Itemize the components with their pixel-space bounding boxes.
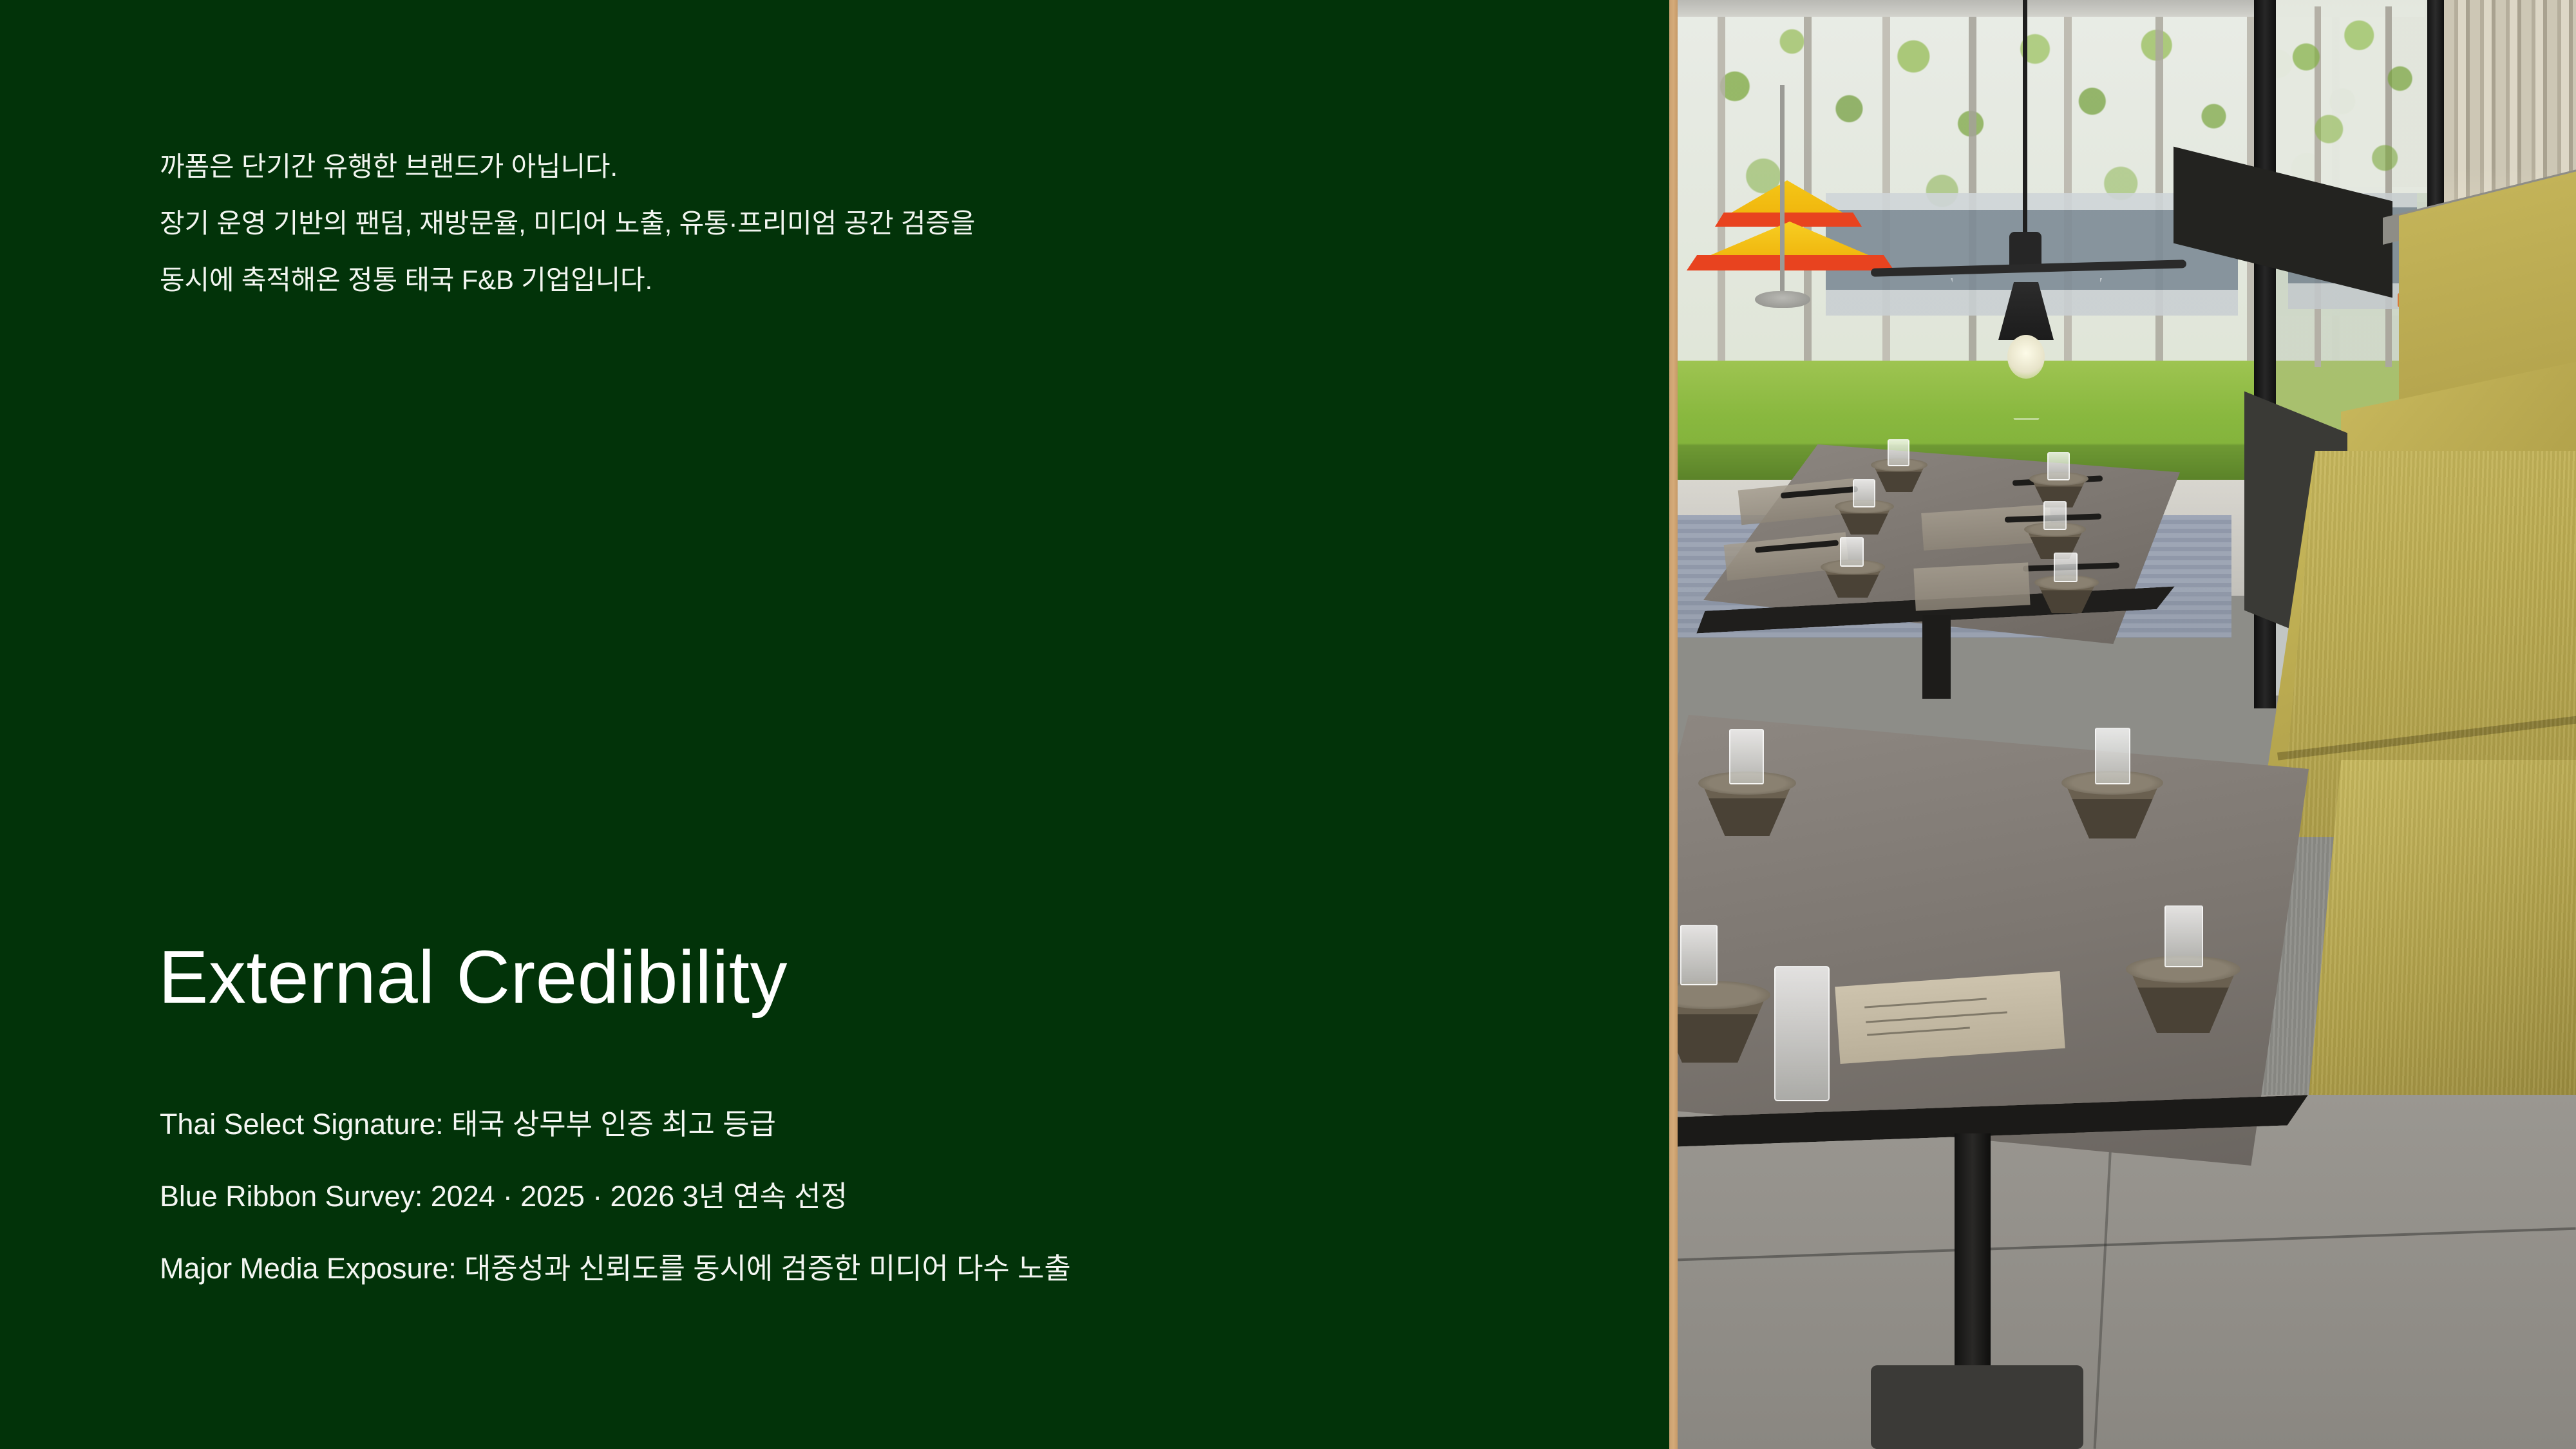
- drinking-glass: [1729, 729, 1764, 784]
- list-item: Major Media Exposure: 대중성과 신뢰도를 동시에 검증한 …: [160, 1233, 1512, 1305]
- drinking-glass: [1680, 925, 1718, 985]
- umbrella-pole: [1780, 85, 1785, 298]
- drinking-glass: [1853, 479, 1875, 507]
- umbrella-tier-top: [1723, 180, 1851, 218]
- umbrella-red-band-lower: [1687, 255, 1894, 270]
- intro-line-1: 까폼은 단기간 유행한 브랜드가 아닙니다.: [160, 138, 1383, 195]
- headline-text: External Credibility: [158, 937, 1446, 1018]
- drinking-glass: [2054, 553, 2078, 582]
- pendant-lamp-cap: [2009, 232, 2041, 268]
- drinking-glass-tall: [1774, 966, 1830, 1101]
- page-title: External Credibility: [158, 937, 1446, 1018]
- intro-line-2: 장기 운영 기반의 팬덤, 재방문율, 미디어 노출, 유통·프리미엄 공간 검…: [160, 195, 1383, 252]
- list-item: Thai Select Signature: 태국 상무부 인증 최고 등급: [160, 1088, 1512, 1160]
- drinking-glass: [2095, 728, 2130, 784]
- intro-line-3: 동시에 축적해온 정통 태국 F&B 기업입니다.: [160, 252, 1383, 308]
- restaurant-interior-photo: [1678, 0, 2576, 1449]
- intro-paragraph: 까폼은 단기간 유행한 브랜드가 아닙니다. 장기 운영 기반의 팬덤, 재방문…: [160, 138, 1383, 308]
- drinking-glass: [2043, 501, 2067, 530]
- drinking-glass: [2047, 452, 2070, 480]
- umbrella-base: [1755, 291, 1810, 308]
- slide-root: 까폼은 단기간 유행한 브랜드가 아닙니다. 장기 운영 기반의 팬덤, 재방문…: [0, 0, 2576, 1449]
- left-content-panel: 까폼은 단기간 유행한 브랜드가 아닙니다. 장기 운영 기반의 팬덤, 재방문…: [0, 0, 1669, 1449]
- list-item: Blue Ribbon Survey: 2024 · 2025 · 2026 3…: [160, 1160, 1512, 1233]
- credibility-list: Thai Select Signature: 태국 상무부 인증 최고 등급 B…: [160, 1088, 1512, 1305]
- drinking-glass: [1840, 537, 1864, 567]
- dining-table-far-leg: [1922, 615, 1951, 699]
- napkin: [1913, 562, 2030, 611]
- panel-divider: [1669, 0, 1678, 1449]
- drinking-glass: [1888, 439, 1909, 466]
- drinking-glass: [2164, 905, 2203, 967]
- pendant-lamp-bulb: [2007, 335, 2045, 379]
- dining-table-near-foot: [1871, 1365, 2083, 1449]
- thai-umbrella: [1684, 180, 1897, 296]
- pendant-lamp-cord: [2023, 0, 2027, 238]
- menu-card: [1835, 971, 2065, 1064]
